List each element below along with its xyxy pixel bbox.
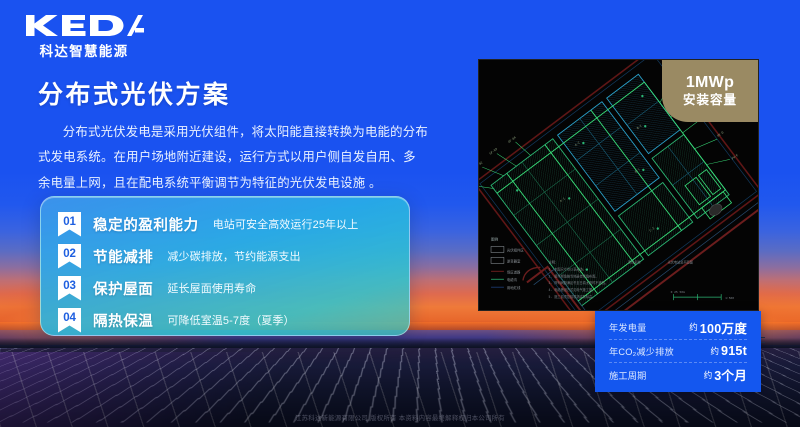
svg-text:场区道路: 场区道路 — [507, 269, 521, 274]
capacity-badge: 1MWp 安装容量 — [662, 60, 758, 122]
stat-value: 100万度 — [700, 318, 747, 337]
svg-text:5. 施工前须复核现场实际标高。: 5. 施工前须复核现场实际标高。 — [549, 294, 596, 299]
stat-row: 年发电量 约 100万度 — [609, 316, 747, 340]
feature-item[interactable]: 03 保护屋面 延长屋面使用寿命 — [41, 272, 409, 304]
brand-logo: 科达智慧能源 — [24, 12, 144, 60]
feature-number: 02 — [63, 249, 75, 261]
feature-description: 减少碳排放，节约能源支出 — [167, 248, 300, 264]
stat-approx: 约 — [689, 321, 698, 333]
stat-approx: 约 — [704, 369, 713, 381]
svg-text:光伏组件区: 光伏组件区 — [507, 247, 524, 252]
svg-text:3. 阵列间距满足冬至日真太阳时不遮挡。: 3. 阵列间距满足冬至日真太阳时不遮挡。 — [549, 280, 608, 285]
svg-text:逆变器室: 逆变器室 — [507, 258, 521, 263]
ribbon-number-icon: 01 — [58, 212, 81, 237]
stat-row: 年CO₂减少排放 约 915t — [609, 340, 747, 364]
intro-paragraph: 分布式光伏发电是采用光伏组件，将太阳能直接转换为电能的分布式发电系统。在用户场地… — [38, 120, 428, 196]
svg-text:光伏电站总平面图: 光伏电站总平面图 — [668, 259, 693, 264]
brand-name-cn: 科达智慧能源 — [24, 40, 144, 60]
svg-text:4. 电缆敷设方式见电气施工图。: 4. 电缆敷设方式见电气施工图。 — [549, 287, 596, 292]
cad-site-plan-panel[interactable]: GF-01GF-02 GF-03GF-04 PV-APV-B PV-CPV-D … — [478, 59, 759, 311]
stat-label: 年发电量 — [609, 320, 689, 334]
ribbon-number-icon: 02 — [58, 244, 81, 269]
svg-text:说明：: 说明： — [549, 259, 558, 264]
stats-panel: 年发电量 约 100万度 年CO₂减少排放 约 915t 施工周期 约 3个月 — [595, 311, 761, 392]
feature-number: 01 — [63, 217, 75, 229]
page-title: 分布式光伏方案 — [38, 75, 231, 111]
svg-text:图例: 图例 — [491, 237, 499, 242]
features-panel: 01 稳定的盈利能力 电站可安全高效运行25年以上 02 节能减排 减少碳排放，… — [40, 196, 410, 336]
feature-number: 04 — [63, 313, 75, 325]
svg-text:项目名称: 项目名称 — [628, 259, 641, 264]
feature-item[interactable]: 02 节能减排 减少碳排放，节约能源支出 — [41, 240, 409, 272]
feature-title: 节能减排 — [93, 246, 153, 267]
svg-text:0 25 50m: 0 25 50m — [671, 290, 686, 294]
ribbon-number-icon: 03 — [58, 276, 81, 301]
svg-text:用地红线: 用地红线 — [507, 285, 521, 290]
svg-text:2. 组件倾角按当地最佳倾角布置。: 2. 组件倾角按当地最佳倾角布置。 — [549, 273, 599, 278]
stat-approx: 约 — [710, 345, 719, 357]
stat-label: 施工周期 — [609, 368, 704, 382]
ribbon-number-icon: 04 — [58, 308, 81, 333]
svg-text:1. 本图尺寸均以毫米计。: 1. 本图尺寸均以毫米计。 — [549, 266, 586, 271]
feature-title: 保护屋面 — [93, 278, 153, 299]
stat-value: 3个月 — [714, 365, 747, 384]
svg-text:1:500: 1:500 — [725, 296, 734, 300]
feature-description: 电站可安全高效运行25年以上 — [213, 216, 359, 232]
feature-title: 稳定的盈利能力 — [93, 214, 199, 235]
feature-description: 可降低室温5-7度（夏季） — [167, 312, 294, 328]
feature-number: 03 — [63, 281, 75, 293]
keda-logo-icon — [24, 12, 144, 39]
capacity-label: 安装容量 — [683, 93, 737, 108]
capacity-value: 1MWp — [686, 74, 734, 93]
stat-value: 915t — [721, 344, 747, 358]
feature-item[interactable]: 01 稳定的盈利能力 电站可安全高效运行25年以上 — [41, 208, 409, 240]
svg-text:电缆沟: 电缆沟 — [507, 277, 518, 282]
stat-label: 年CO₂减少排放 — [609, 344, 710, 358]
feature-title: 隔热保温 — [93, 310, 153, 331]
stat-row: 施工周期 约 3个月 — [609, 363, 747, 387]
feature-description: 延长屋面使用寿命 — [167, 280, 256, 296]
feature-item[interactable]: 04 隔热保温 可降低室温5-7度（夏季） — [41, 304, 409, 336]
